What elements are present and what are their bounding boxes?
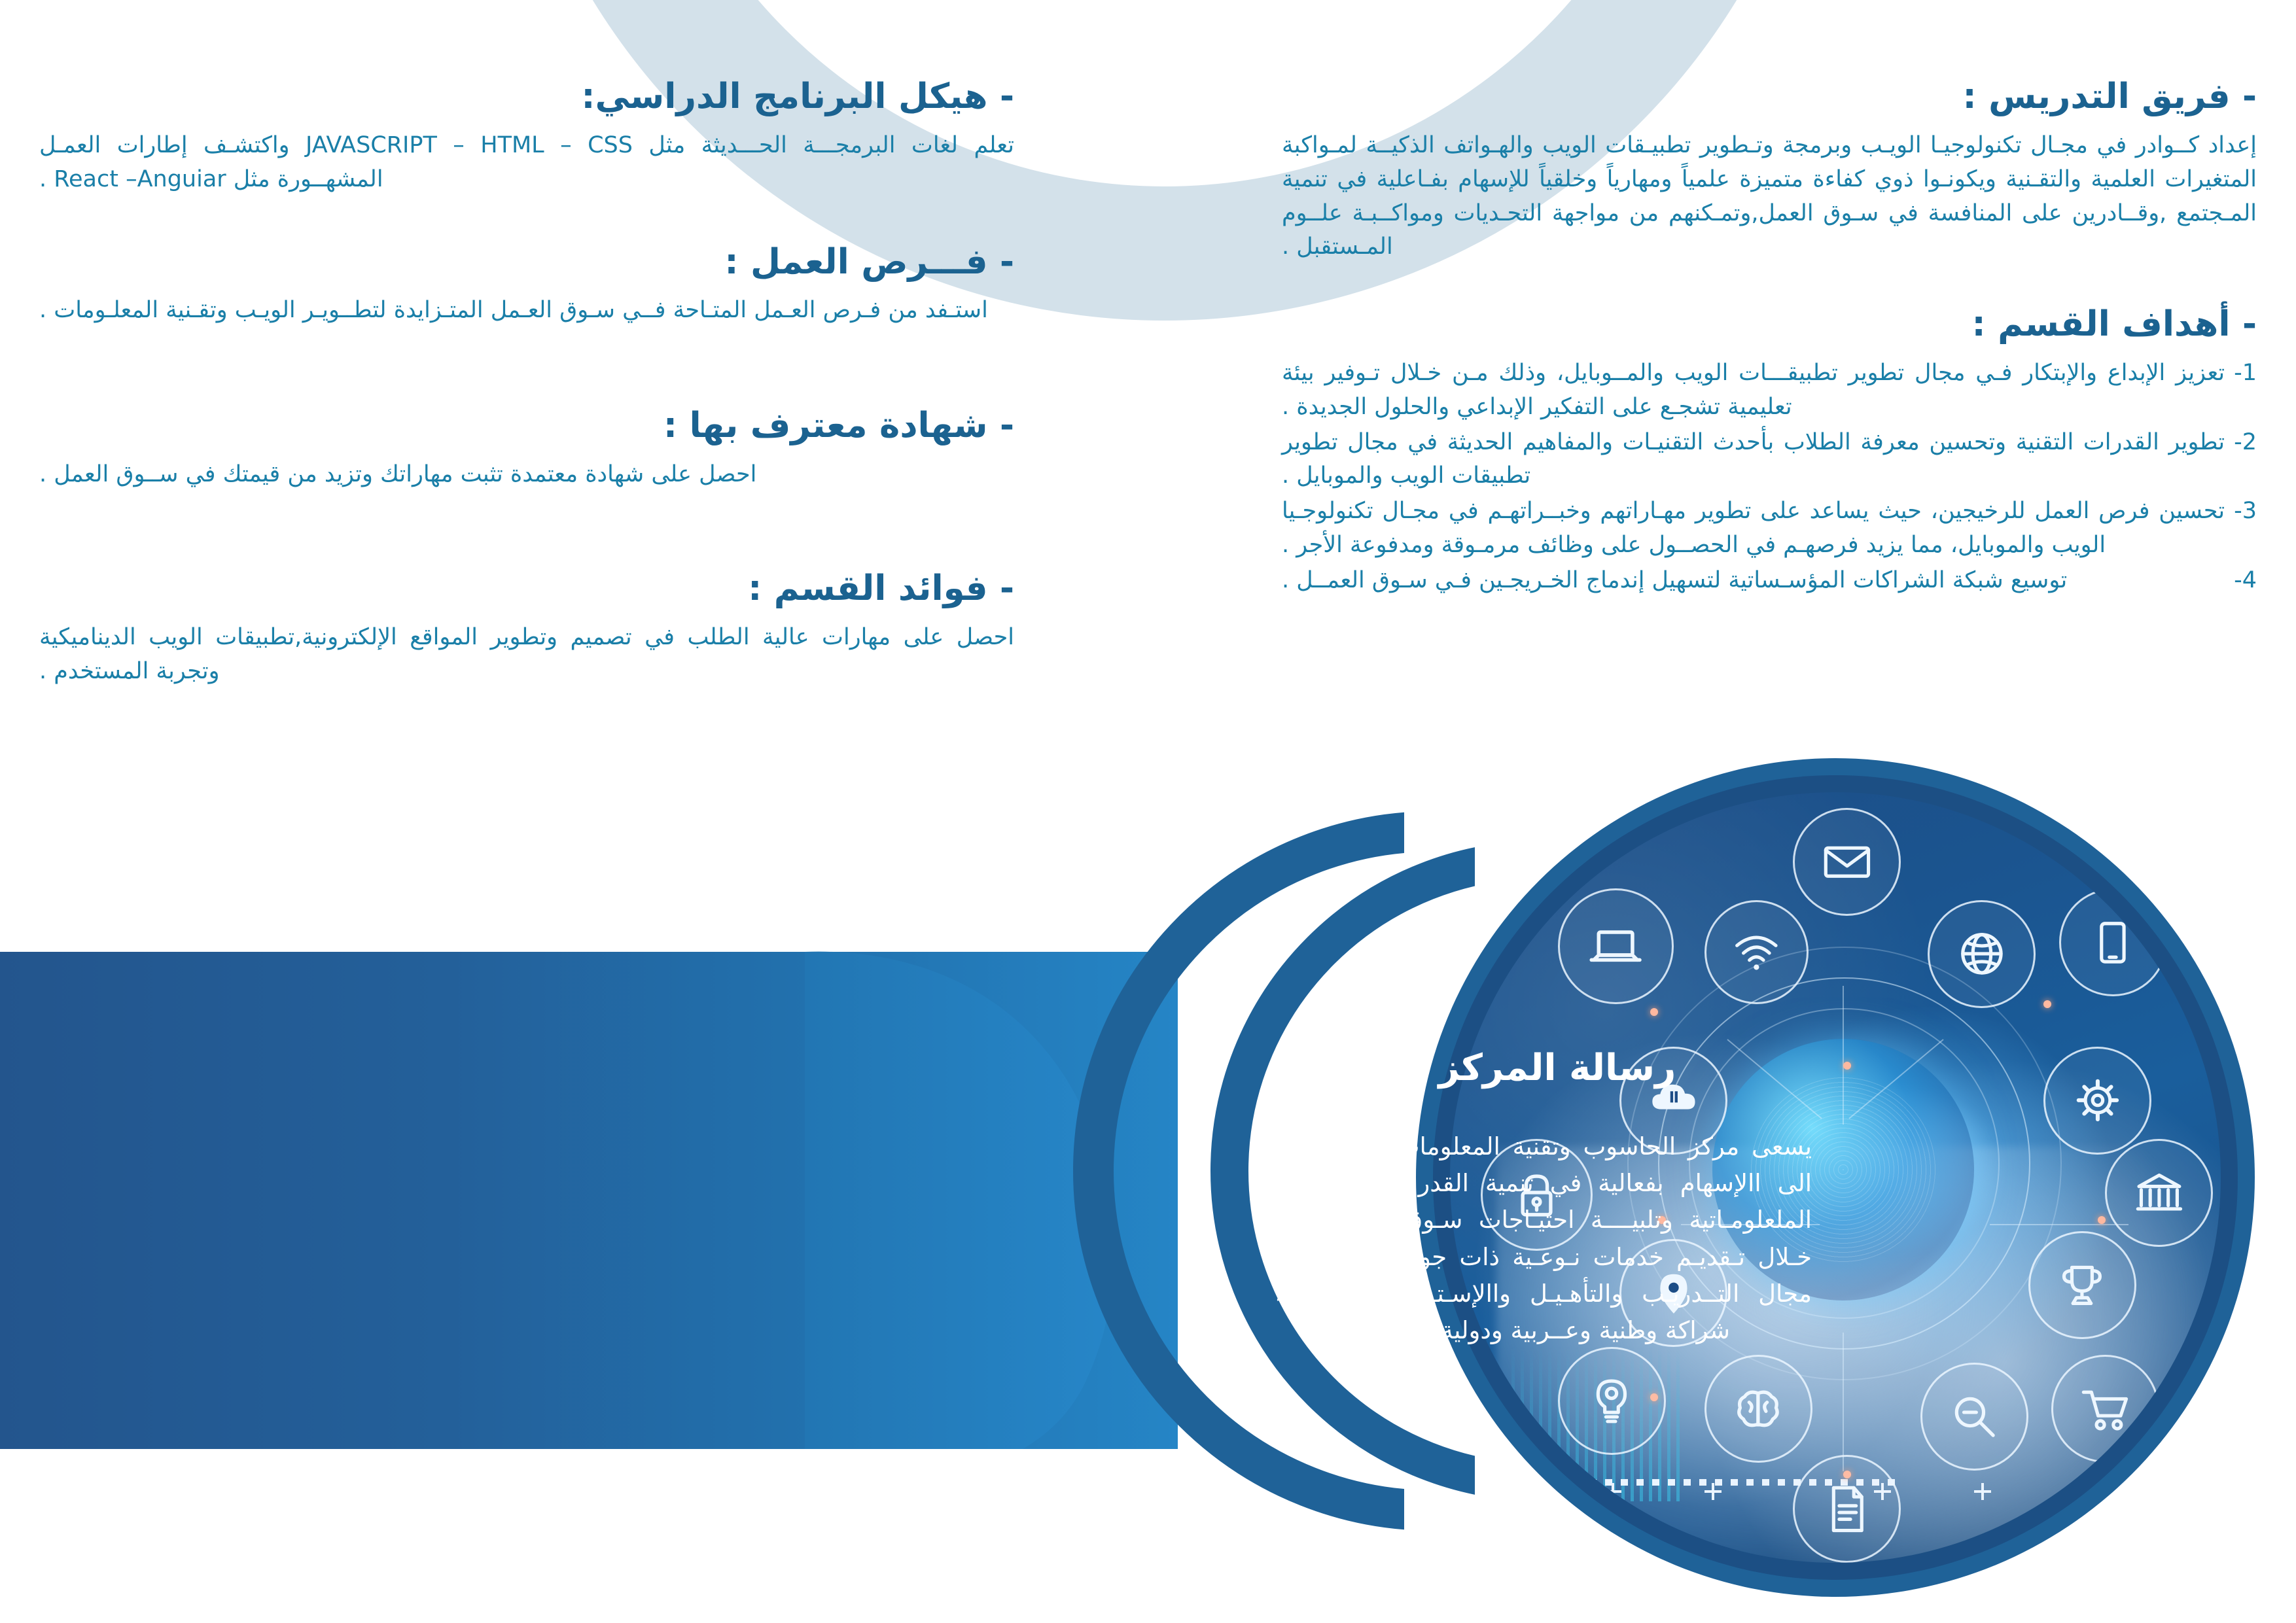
goal-text: تعزيز الإبداع والإبتكار فـي مجال تطوير ت… — [1282, 357, 2225, 425]
department-goals-list: 1- تعزيز الإبداع والإبتكار فـي مجال تطوي… — [1282, 357, 2257, 598]
center-mission-body: يسعى مركز الحاسوب وتقنية المعلومات بجامع… — [1275, 1128, 1812, 1349]
goal-number: 2- — [2234, 426, 2257, 494]
trophy-icon — [2028, 1231, 2136, 1339]
envelope-icon — [1793, 808, 1901, 916]
shopping-cart-icon — [2051, 1355, 2159, 1463]
section-accredited-certificate: - شهادة معترف بها : احصل على شهادة معتمد… — [39, 406, 1014, 492]
connector-line — [1990, 1224, 2128, 1225]
curriculum-structure-body: تعلم لغات البرمجـــة الحـــديثة مثل JAVA… — [39, 129, 1014, 197]
accredited-certificate-title: - شهادة معترف بها : — [39, 406, 1014, 446]
left-content-column: - هيكل البرنامج الدراسي: تعلم لغات البرم… — [39, 77, 1014, 706]
connector-node — [2098, 1216, 2106, 1224]
bottom-left-white-mask — [0, 1449, 1178, 1623]
wifi-icon — [1704, 900, 1809, 1004]
laptop-icon — [1558, 888, 1674, 1004]
goal-item: 4- توسيع شبكة الشراكات المؤسـساتية لتسهي… — [1282, 564, 2257, 598]
connector-node — [2043, 1000, 2051, 1008]
section-teaching-team: - فريق التدريس : إعداد كــوادر في مجـال … — [1282, 77, 2257, 264]
accredited-certificate-body: احصل على شهادة معتمدة تثبت مهاراتك وتزيد… — [39, 458, 1014, 492]
connector-node — [1650, 1008, 1658, 1016]
search-icon — [1920, 1363, 2028, 1471]
department-goals-title: - أهداف القسم : — [1282, 305, 2257, 345]
page-canvas: - فريق التدريس : إعداد كــوادر في مجـال … — [0, 0, 2296, 1623]
goal-item: 2- تطوير القدرات التقنية وتحسين معرفة ال… — [1282, 426, 2257, 494]
goal-item: 1- تعزيز الإبداع والإبتكار فـي مجال تطوي… — [1282, 357, 2257, 425]
goal-text: تحسين فرص العمل للرخيجين، حيث يساعد على … — [1282, 495, 2225, 563]
goal-text: توسيع شبكة الشراكات المؤسـساتية لتسهيل إ… — [1282, 564, 2225, 598]
department-benefits-body: احصل على مهارات عالية الطلب في تصميم وتط… — [39, 621, 1014, 689]
job-opportunities-body: استـفد من فـرص العـمل المتـاحة فــي سـوق… — [39, 294, 1014, 328]
center-mission-text: رسالة المركز : يسعى مركز الحاسوب وتقنية … — [1275, 1047, 1812, 1349]
goal-text: تطوير القدرات التقنية وتحسين معرفة الطلا… — [1282, 426, 2225, 494]
gear-icon — [2043, 1047, 2151, 1155]
goal-number: 3- — [2234, 495, 2257, 563]
right-content-column: - فريق التدريس : إعداد كــوادر في مجـال … — [1282, 77, 2257, 615]
department-benefits-title: - فوائد القسم : — [39, 569, 1014, 609]
brain-icon — [1704, 1355, 1812, 1463]
job-opportunities-title: - فـــرص العمل : — [39, 243, 1014, 283]
center-mission-title: رسالة المركز : — [1275, 1047, 1812, 1089]
section-department-goals: - أهداف القسم : 1- تعزيز الإبداع والإبتك… — [1282, 305, 2257, 598]
curriculum-structure-title: - هيكل البرنامج الدراسي: — [39, 77, 1014, 117]
section-curriculum-structure: - هيكل البرنامج الدراسي: تعلم لغات البرم… — [39, 77, 1014, 197]
teaching-team-title: - فريق التدريس : — [1282, 77, 2257, 117]
connector-node — [1843, 1062, 1851, 1070]
tablet-icon — [2059, 888, 2167, 996]
teaching-team-body: إعداد كــوادر في مجـال تكنولوجيـا الويـب… — [1282, 129, 2257, 264]
connector-line — [1843, 986, 1844, 1125]
lightbulb-icon — [1558, 1347, 1666, 1455]
goal-number: 1- — [2234, 357, 2257, 425]
globe-icon — [1928, 900, 2036, 1008]
section-department-benefits: - فوائد القسم : احصل على مهارات عالية ال… — [39, 569, 1014, 689]
goal-item: 3- تحسين فرص العمل للرخيجين، حيث يساعد ع… — [1282, 495, 2257, 563]
section-job-opportunities: - فـــرص العمل : استـفد من فـرص العـمل ا… — [39, 243, 1014, 328]
goal-number: 4- — [2234, 564, 2257, 598]
document-icon — [1793, 1455, 1901, 1563]
connector-line — [1843, 1333, 1844, 1471]
bank-icon — [2105, 1139, 2213, 1247]
